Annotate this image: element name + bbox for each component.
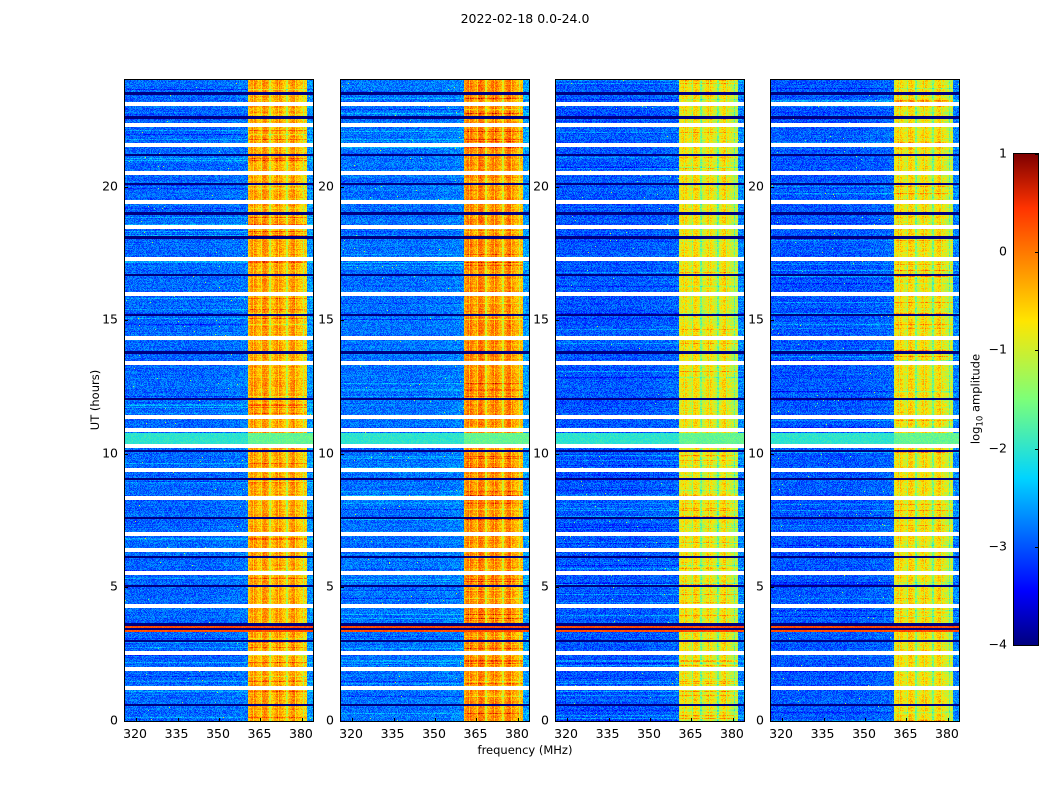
- y-axis-tick: [340, 320, 344, 321]
- y-axis-tick-label: 0: [756, 713, 764, 728]
- colorbar-tick-label: 0: [999, 244, 1007, 259]
- colorbar[interactable]: [1013, 153, 1039, 646]
- y-axis-tick: [555, 187, 559, 188]
- x-axis-tick-label: 335: [165, 726, 189, 741]
- x-axis-label: frequency (MHz): [0, 743, 1050, 757]
- y-axis-tick: [555, 454, 559, 455]
- y-axis-tick: [124, 320, 128, 321]
- y-axis-tick: [340, 721, 344, 722]
- x-axis-tick-label: 365: [894, 726, 918, 741]
- x-axis-tick: [435, 718, 436, 722]
- y-axis-tick: [770, 721, 774, 722]
- x-axis-tick: [567, 718, 568, 722]
- x-axis-tick: [394, 718, 395, 722]
- x-axis-tick-label: 335: [596, 726, 620, 741]
- x-axis-tick-label: 365: [464, 726, 488, 741]
- y-axis-tick-label: 20: [748, 178, 764, 193]
- y-axis-tick-label: 15: [748, 312, 764, 327]
- x-axis-tick: [782, 718, 783, 722]
- x-axis-tick-label: 380: [505, 726, 529, 741]
- colorbar-tick-label: −1: [989, 342, 1007, 357]
- y-axis-tick-label: 0: [541, 713, 549, 728]
- x-axis-tick: [865, 718, 866, 722]
- colorbar-label-log: log: [968, 427, 982, 445]
- x-axis-tick-label: 380: [720, 726, 744, 741]
- heatmap-image-xy: [556, 80, 744, 721]
- x-axis-tick-label: 350: [206, 726, 230, 741]
- colorbar-tick: [1035, 449, 1039, 450]
- x-axis-tick: [260, 718, 261, 722]
- colorbar-tick-label: −2: [989, 440, 1007, 455]
- y-axis-tick: [770, 587, 774, 588]
- x-axis-tick-label: 380: [935, 726, 959, 741]
- y-axis-tick-label: 20: [102, 178, 118, 193]
- y-axis-tick: [770, 454, 774, 455]
- x-axis-tick-label: 320: [769, 726, 793, 741]
- x-axis-tick-label: 350: [852, 726, 876, 741]
- x-axis-tick: [352, 718, 353, 722]
- x-axis-tick: [691, 718, 692, 722]
- x-axis-tick-label: 365: [679, 726, 703, 741]
- heatmap-image-yx: [771, 80, 959, 721]
- x-axis-tick-label: 365: [248, 726, 272, 741]
- x-axis-tick: [609, 718, 610, 722]
- x-axis-tick: [650, 718, 651, 722]
- y-axis-tick-label: 10: [102, 445, 118, 460]
- x-axis-tick: [906, 718, 907, 722]
- y-axis-tick-label: 0: [110, 713, 118, 728]
- y-axis-tick-label: 10: [318, 445, 334, 460]
- y-axis-tick: [770, 187, 774, 188]
- colorbar-tick: [1035, 645, 1039, 646]
- y-axis-tick: [340, 454, 344, 455]
- x-axis-tick: [302, 718, 303, 722]
- x-axis-tick-label: 335: [381, 726, 405, 741]
- x-axis-tick-label: 320: [554, 726, 578, 741]
- x-axis-tick-label: 350: [422, 726, 446, 741]
- y-axis-label: UT (hours): [88, 370, 102, 430]
- y-axis-tick: [124, 587, 128, 588]
- colorbar-tick: [1035, 350, 1039, 351]
- x-axis-tick: [219, 718, 220, 722]
- y-axis-tick-label: 15: [102, 312, 118, 327]
- colorbar-tick-label: −3: [989, 538, 1007, 553]
- figure-canvas: 2022-02-18 0.0-24.0 XX, V3*V5=EA04*EA06 …: [0, 0, 1050, 800]
- y-axis-tick: [124, 721, 128, 722]
- x-axis-tick: [948, 718, 949, 722]
- colorbar-tick-label: −4: [989, 637, 1007, 652]
- y-axis-tick: [555, 587, 559, 588]
- y-axis-tick: [340, 587, 344, 588]
- y-axis-tick-label: 5: [110, 579, 118, 594]
- figure-suptitle: 2022-02-18 0.0-24.0: [0, 11, 1050, 26]
- y-axis-tick-label: 5: [326, 579, 334, 594]
- x-axis-tick-label: 320: [123, 726, 147, 741]
- x-axis-tick-label: 320: [339, 726, 363, 741]
- x-axis-tick-label: 380: [289, 726, 313, 741]
- y-axis-tick: [770, 320, 774, 321]
- x-axis-tick: [476, 718, 477, 722]
- x-axis-tick: [136, 718, 137, 722]
- subplot-panel-xx[interactable]: XX, V3*V5=EA04*EA06: [124, 79, 314, 722]
- colorbar-tick: [1035, 547, 1039, 548]
- subplot-panel-yy[interactable]: YY, V3*V5=EA04*EA06: [340, 79, 530, 722]
- colorbar-label: log10 amplitude: [968, 354, 985, 444]
- y-axis-tick-label: 10: [533, 445, 549, 460]
- colorbar-label-subscript: 10: [976, 416, 986, 427]
- colorbar-tick: [1035, 252, 1039, 253]
- y-axis-tick: [555, 320, 559, 321]
- y-axis-tick-label: 20: [533, 178, 549, 193]
- subplot-panel-xy[interactable]: XY, V3*V5=EA04*EA06: [555, 79, 745, 722]
- x-axis-tick: [518, 718, 519, 722]
- x-axis-tick: [733, 718, 734, 722]
- y-axis-tick-label: 0: [326, 713, 334, 728]
- colorbar-tick-label: 1: [999, 146, 1007, 161]
- y-axis-tick-label: 20: [318, 178, 334, 193]
- x-axis-tick: [824, 718, 825, 722]
- y-axis-tick-label: 15: [533, 312, 549, 327]
- y-axis-tick: [555, 721, 559, 722]
- heatmap-image-yy: [341, 80, 529, 721]
- y-axis-tick: [124, 454, 128, 455]
- x-axis-tick-label: 335: [811, 726, 835, 741]
- colorbar-gradient: [1014, 154, 1038, 645]
- y-axis-tick: [340, 187, 344, 188]
- x-axis-tick-label: 350: [637, 726, 661, 741]
- colorbar-tick: [1035, 154, 1039, 155]
- y-axis-tick-label: 15: [318, 312, 334, 327]
- y-axis-tick-label: 10: [748, 445, 764, 460]
- x-axis-tick: [178, 718, 179, 722]
- subplot-panel-yx[interactable]: YX, V3*V5=EA04*EA06: [770, 79, 960, 722]
- colorbar-label-rest: amplitude: [968, 354, 982, 416]
- y-axis-tick: [124, 187, 128, 188]
- heatmap-image-xx: [125, 80, 313, 721]
- y-axis-tick-label: 5: [541, 579, 549, 594]
- y-axis-tick-label: 5: [756, 579, 764, 594]
